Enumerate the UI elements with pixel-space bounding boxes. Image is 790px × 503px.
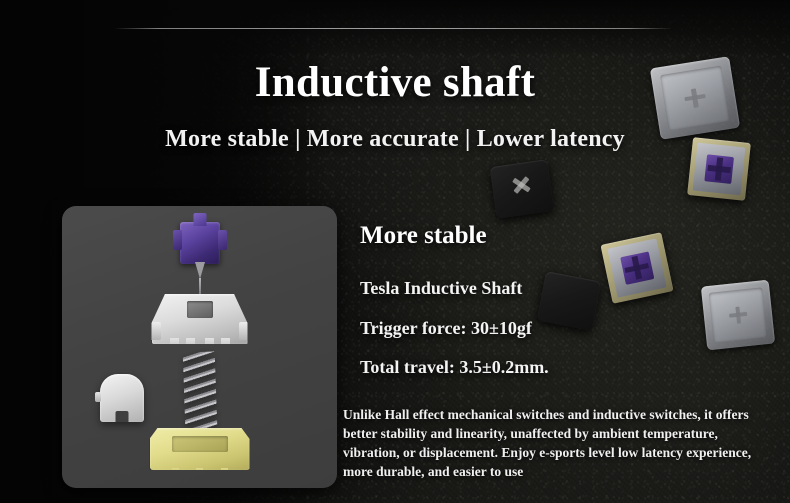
switch-part-spring — [182, 351, 217, 428]
upper-housing-leg — [221, 338, 230, 358]
details-heading: More stable — [360, 222, 487, 250]
keycap-dark-center-middle — [537, 271, 602, 331]
top-divider — [114, 28, 672, 29]
keycap-translucent-right-lower — [701, 280, 775, 351]
stem-wing-right — [218, 230, 227, 250]
switch-purple-right-middle — [600, 232, 673, 304]
upper-housing-stem-hole — [187, 301, 213, 318]
spec-line-total-travel: Total travel: 3.5±0.2mm. — [360, 357, 549, 378]
switch-part-upper-housing — [152, 294, 248, 344]
base-housing-pin — [172, 468, 179, 479]
switch-stem-cross-icon — [704, 154, 733, 183]
slider-side-rail — [95, 392, 101, 402]
upper-housing-leg — [170, 338, 179, 358]
spec-line-trigger-force: Trigger force: 30±10gf — [360, 318, 532, 339]
stem-nub — [193, 213, 206, 226]
base-housing-pin — [221, 468, 228, 479]
upper-housing-tab-left — [150, 322, 161, 340]
keycap-dark-center-upper — [490, 159, 555, 219]
page-subtitle: More stable | More accurate | Lower late… — [0, 126, 790, 153]
page-title: Inductive shaft — [0, 58, 790, 107]
keycap-x-mark-icon — [509, 173, 534, 198]
exploded-switch-diagram — [62, 206, 337, 488]
slider-notch — [116, 411, 129, 422]
spec-line-name: Tesla Inductive Shaft — [360, 278, 522, 299]
switch-stem-cross-icon — [620, 252, 654, 285]
details-description: Unlike Hall effect mechanical switches a… — [343, 405, 771, 481]
switch-part-slider — [100, 374, 144, 422]
switch-part-stem — [180, 222, 220, 264]
upper-housing-tab-right — [239, 322, 250, 340]
base-housing-well — [172, 436, 228, 453]
switch-part-base-housing — [150, 428, 250, 470]
base-housing-pin — [196, 468, 203, 479]
keycap-cross-mount-icon — [728, 306, 747, 324]
switch-part-needle-shaft — [199, 278, 201, 295]
switch-part-needle-tip — [195, 262, 205, 279]
product-image-panel — [62, 206, 337, 488]
stem-wing-left — [173, 230, 182, 250]
promo-banner: Inductive shaft More stable | More accur… — [0, 0, 790, 503]
